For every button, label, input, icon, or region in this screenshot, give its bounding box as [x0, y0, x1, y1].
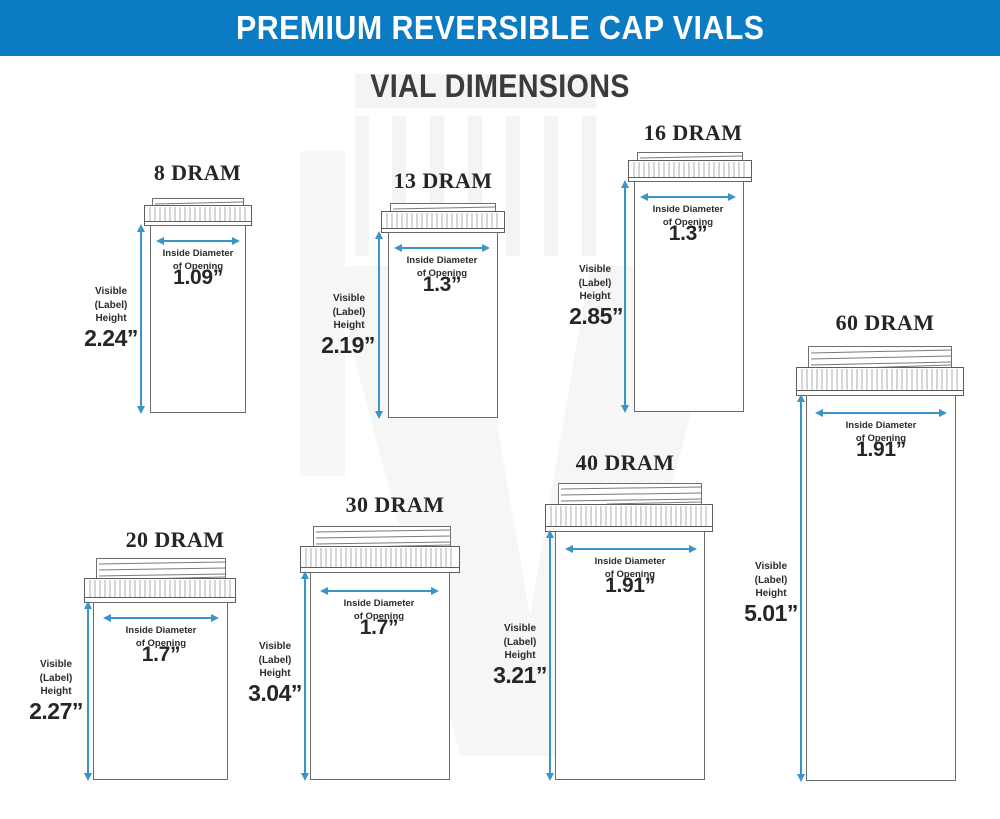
visible-height-label: Visible (Label) Height: [494, 622, 546, 663]
infographic-page: PREMIUM REVERSIBLE CAP VIALS VIAL DIMENS…: [0, 0, 1000, 819]
inside-diameter-value: 1.91”: [580, 574, 680, 598]
inside-diameter-arrow: [572, 548, 690, 550]
vial-title: 40 DRAM: [530, 450, 720, 476]
visible-height-value: 3.21”: [490, 662, 550, 689]
vial-group-40-dram: 40 DRAM: [0, 0, 1000, 819]
visible-height-arrow: [549, 537, 551, 774]
cap-threads: [558, 483, 702, 506]
